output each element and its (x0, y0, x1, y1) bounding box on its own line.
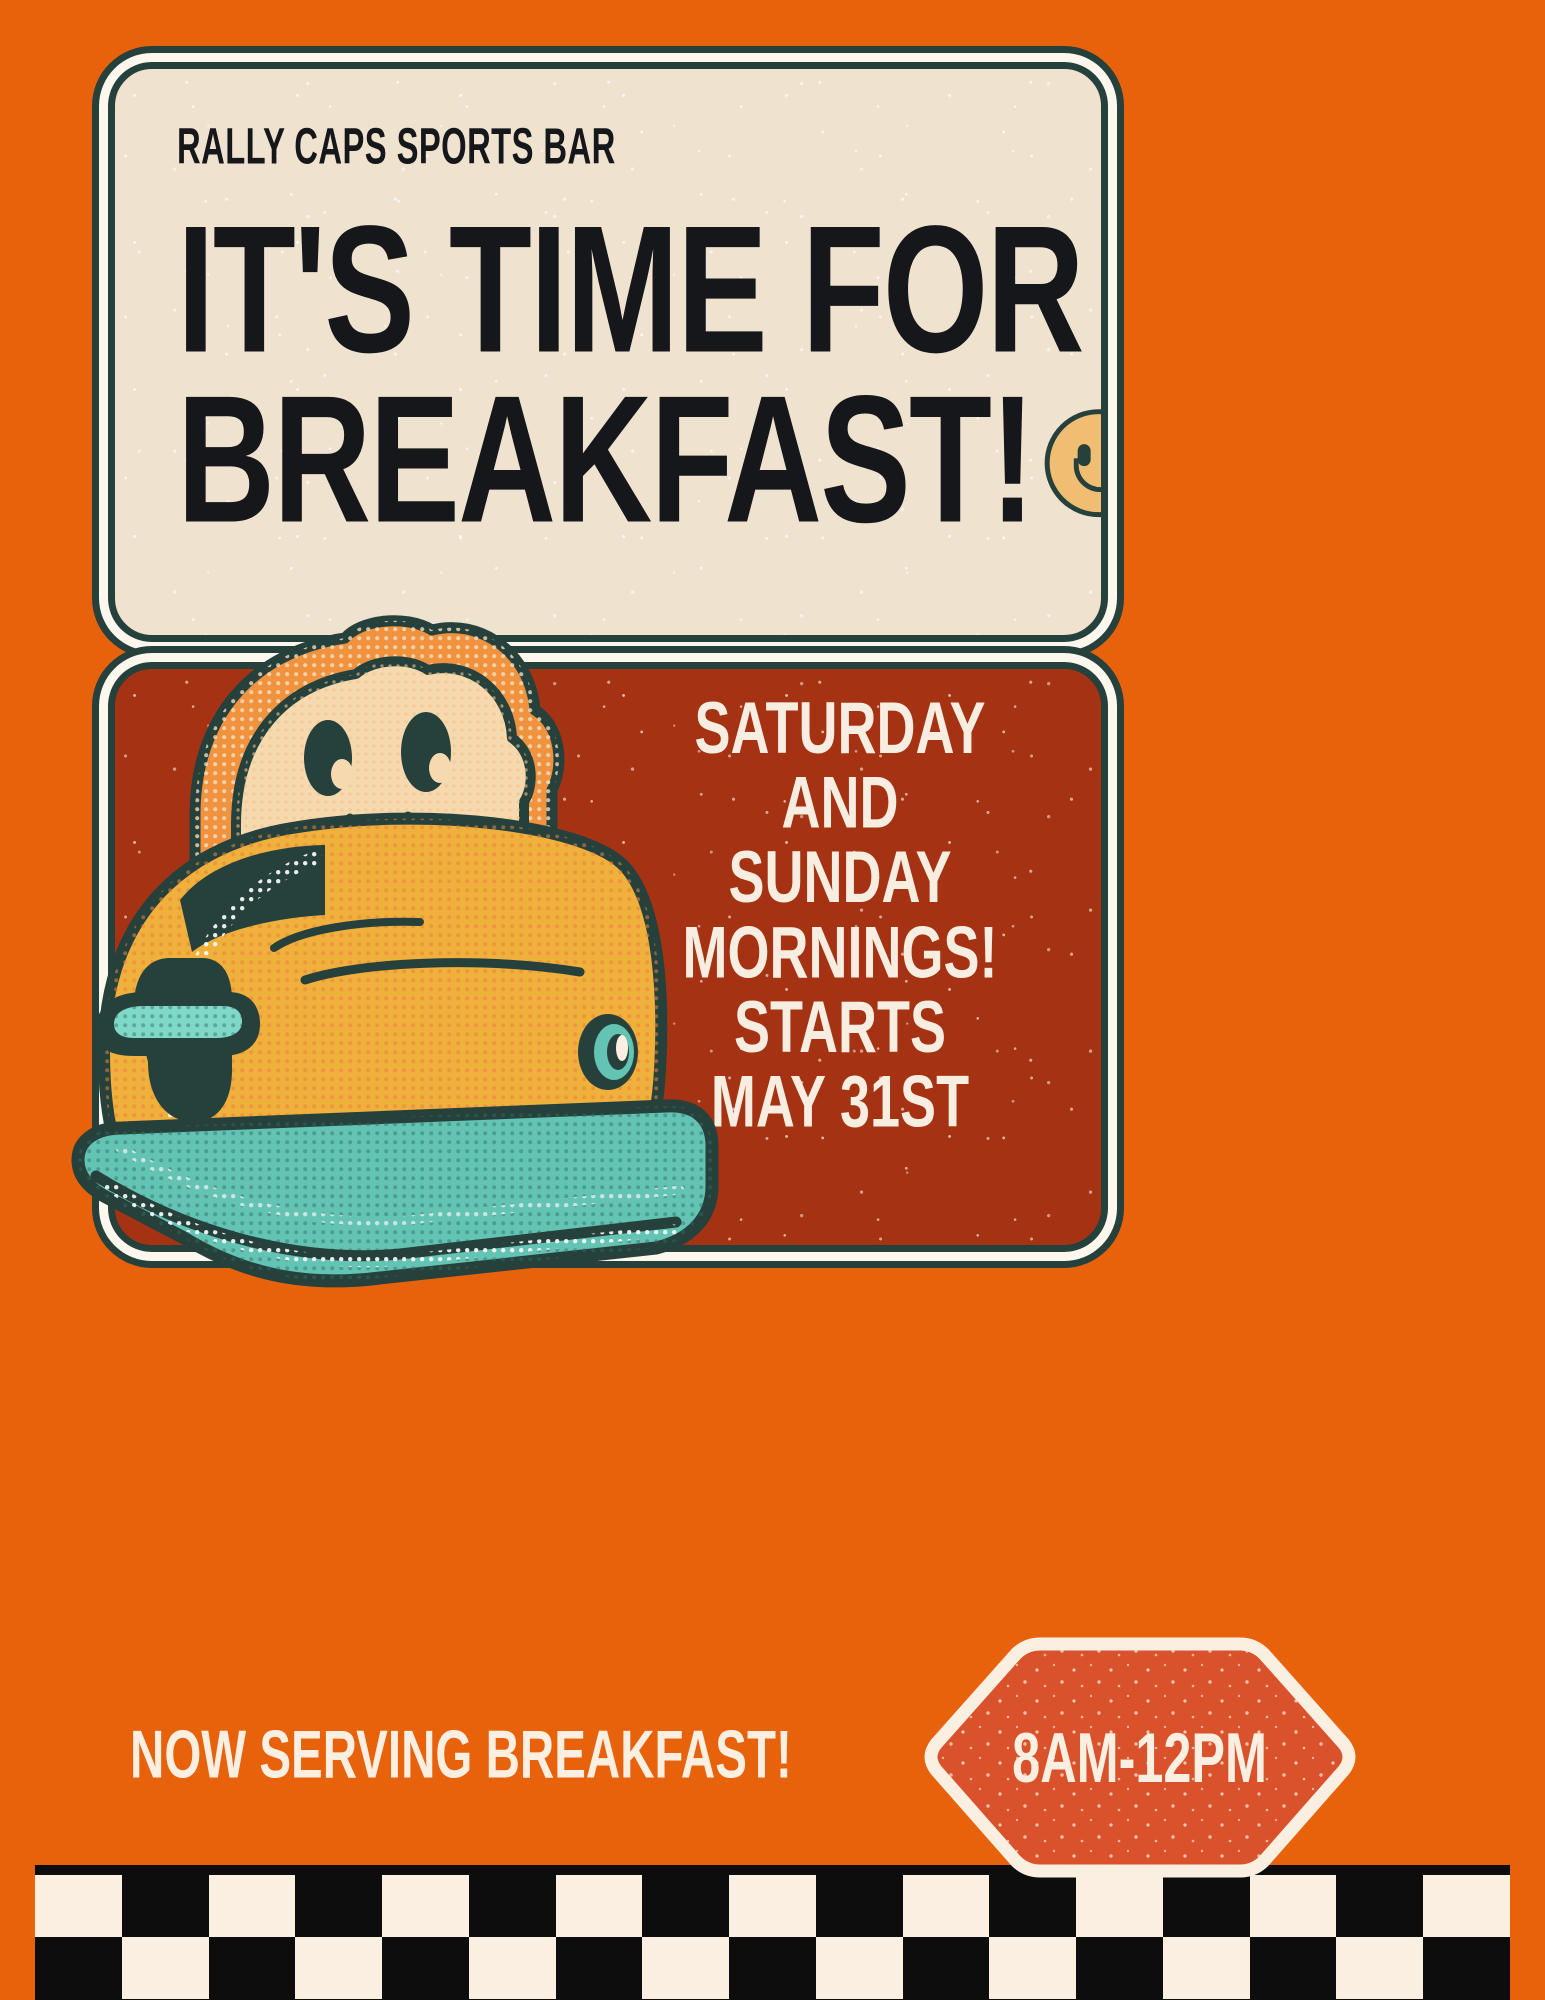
footer-banner: NOW SERVING BREAKFAST! 8AM (0, 1690, 1545, 1820)
checker-cell (816, 1937, 903, 1999)
checker-cell (295, 1937, 382, 1999)
smiley-right-eye (1107, 444, 1108, 466)
checker-cell (122, 1937, 209, 1999)
checker-cell (35, 1937, 122, 1999)
checker-cell (382, 1875, 469, 1937)
checker-cell (469, 1875, 556, 1937)
checker-cell (642, 1875, 729, 1937)
headline: IT'S TIME FOR BREAKFAST! (177, 204, 1036, 544)
checkerboard-strip (35, 1865, 1510, 2000)
headline-line-1: IT'S TIME FOR (177, 204, 1036, 374)
checker-cell (209, 1875, 296, 1937)
checker-rows (35, 1875, 1510, 2000)
smiley-face-icon (1045, 409, 1108, 517)
checker-cell (1250, 1937, 1337, 1999)
checker-cell (903, 1937, 990, 1999)
checker-cell (469, 1937, 556, 1999)
checker-cell (295, 1875, 382, 1937)
checker-cell (35, 1875, 122, 1937)
toaster-illustration (60, 600, 720, 1290)
checker-cell (382, 1937, 469, 1999)
toaster-base (78, 1106, 712, 1281)
checker-cell (1423, 1937, 1510, 1999)
checker-cell (1336, 1937, 1423, 1999)
checker-cell (729, 1875, 816, 1937)
checker-cell (556, 1937, 643, 1999)
checker-cell (556, 1875, 643, 1937)
now-serving-text: NOW SERVING BREAKFAST! (130, 1716, 792, 1794)
toaster-lever (96, 992, 260, 1056)
badge-time-label: 8AM-12PM (1013, 1717, 1268, 1799)
headline-line-2: BREAKFAST! (177, 374, 1033, 544)
checker-cell (122, 1875, 209, 1937)
breakfast-promo-poster: RALLY CAPS SPORTS BAR IT'S TIME FOR BREA… (0, 0, 1545, 2000)
checker-cell (1076, 1937, 1163, 1999)
checker-cell (816, 1875, 903, 1937)
checker-cell (1423, 1875, 1510, 1937)
smiley-mouth (1074, 458, 1108, 492)
checker-cell (642, 1937, 729, 1999)
brand-name: RALLY CAPS SPORTS BAR (177, 119, 935, 177)
checker-cell (989, 1937, 1076, 1999)
checker-row (35, 1937, 1510, 1999)
service-hours-badge: 8AM-12PM (920, 1630, 1360, 1885)
checker-cell (209, 1937, 296, 1999)
checker-cell (1163, 1937, 1250, 1999)
checker-cell (729, 1937, 816, 1999)
header-panel: RALLY CAPS SPORTS BAR IT'S TIME FOR BREA… (108, 62, 1108, 642)
toaster-dial-knob (578, 1014, 638, 1090)
